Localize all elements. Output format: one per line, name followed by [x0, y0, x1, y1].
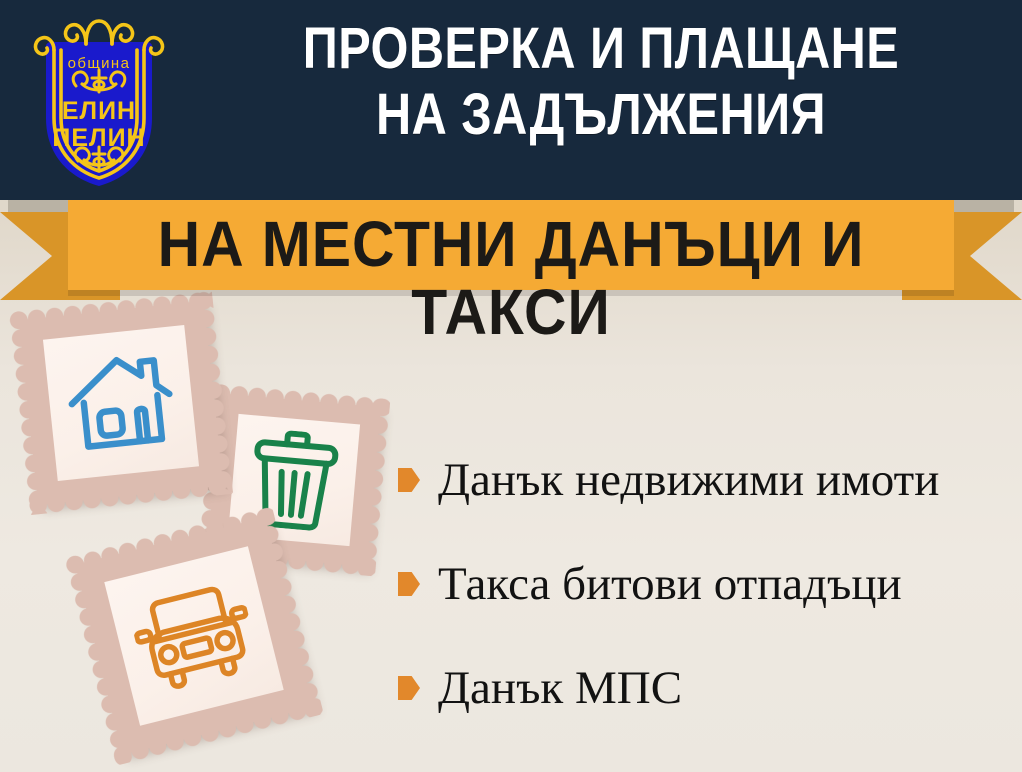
page-title: ПРОВЕРКА И ПЛАЩАНЕ НА ЗАДЪЛЖЕНИЯ [247, 16, 954, 148]
ribbon-banner: НА МЕСТНИ ДАНЪЦИ И ТАКСИ [0, 198, 1022, 302]
page-title-line-2: НА ЗАДЪЛЖЕНИЯ [247, 82, 954, 148]
list-item[interactable]: Такса битови отпадъци [398, 532, 1018, 636]
list-item[interactable]: Данък недвижими имоти [398, 428, 1018, 532]
stamp-inner-vehicle [104, 546, 283, 725]
arrow-bullet-icon [398, 572, 420, 596]
stamp-inner-property [43, 325, 199, 481]
poster-canvas: ПРОВЕРКА И ПЛАЩАНЕ НА ЗАДЪЛЖЕНИЯ община [0, 0, 1022, 772]
logo-name-line-1: ЕЛИН [62, 97, 136, 125]
ribbon-shadow-left [8, 200, 68, 214]
arrow-bullet-icon [398, 468, 420, 492]
list-item-label: Данък недвижими имоти [438, 457, 939, 504]
tax-type-list: Данък недвижими имоти Такса битови отпад… [398, 428, 1018, 740]
coat-of-arms-icon: община ЕЛИН ПЕЛИН [24, 6, 174, 191]
list-item-label: Такса битови отпадъци [438, 561, 902, 608]
car-front-icon [126, 575, 262, 696]
stamp-group [0, 290, 420, 760]
arrow-bullet-icon [398, 676, 420, 700]
ribbon-label: НА МЕСТНИ ДАНЪЦИ И ТАКСИ [103, 210, 918, 346]
ribbon-panel: НА МЕСТНИ ДАНЪЦИ И ТАКСИ [68, 198, 954, 290]
ribbon-shadow-right [954, 200, 1014, 214]
page-title-line-1: ПРОВЕРКА И ПЛАЩАНЕ [303, 16, 899, 81]
list-item[interactable]: Данък МПС [398, 636, 1018, 740]
municipality-logo: община ЕЛИН ПЕЛИН [24, 6, 174, 191]
house-icon [61, 345, 181, 462]
list-item-label: Данък МПС [438, 665, 682, 712]
